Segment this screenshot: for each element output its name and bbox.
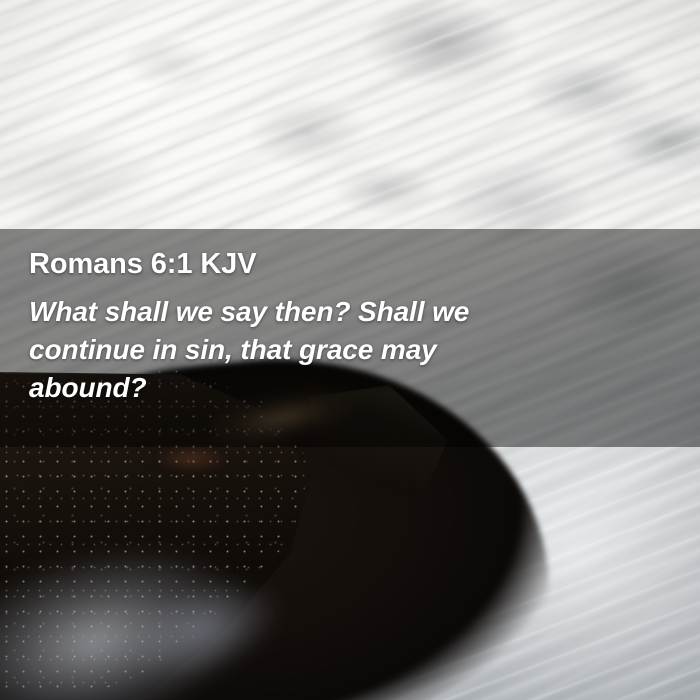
- verse-text-line: abound?: [29, 369, 599, 407]
- verse-text: What shall we say then? Shall we continu…: [29, 293, 599, 407]
- caption-text-block: Romans 6:1 KJV What shall we say then? S…: [29, 247, 676, 407]
- verse-reference: Romans 6:1 KJV: [29, 247, 676, 281]
- verse-image-canvas: Romans 6:1 KJV What shall we say then? S…: [0, 0, 700, 700]
- verse-text-line: What shall we say then? Shall we: [29, 293, 599, 331]
- verse-text-line: continue in sin, that grace may: [29, 331, 599, 369]
